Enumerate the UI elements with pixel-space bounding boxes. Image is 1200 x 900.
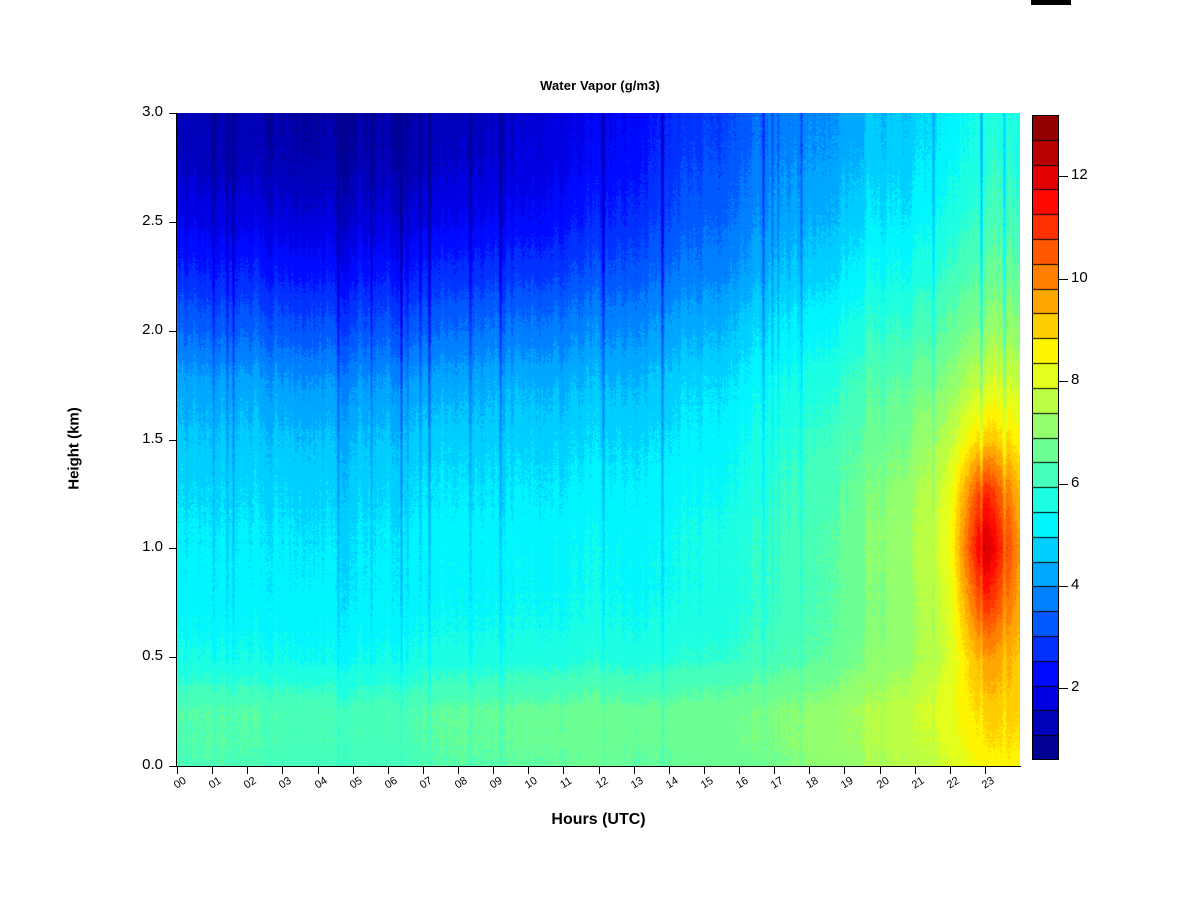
x-tick-mark bbox=[212, 767, 213, 774]
x-tick-mark bbox=[950, 767, 951, 774]
colorbar-tick-mark bbox=[1059, 484, 1068, 485]
x-tick-label: 08 bbox=[447, 771, 475, 795]
x-tick-label: 20 bbox=[869, 771, 897, 795]
x-tick-mark bbox=[563, 767, 564, 774]
x-tick-label: 16 bbox=[728, 771, 756, 795]
x-axis-title: Hours (UTC) bbox=[177, 811, 1020, 829]
x-tick-label: 07 bbox=[412, 771, 440, 795]
x-tick-label: 23 bbox=[974, 771, 1002, 795]
x-tick-label: 19 bbox=[833, 771, 861, 795]
y-tick-mark bbox=[169, 548, 176, 549]
x-tick-label: 05 bbox=[342, 771, 370, 795]
y-tick-label: 1.5 bbox=[103, 430, 163, 447]
x-tick-label: 13 bbox=[623, 771, 651, 795]
colorbar-tick-mark bbox=[1059, 586, 1068, 587]
x-tick-mark bbox=[423, 767, 424, 774]
x-tick-mark bbox=[669, 767, 670, 774]
y-axis-title: Height (km) bbox=[66, 369, 83, 529]
colorbar-tick-label: 12 bbox=[1071, 166, 1088, 183]
x-tick-label: 11 bbox=[552, 771, 580, 795]
x-tick-mark bbox=[318, 767, 319, 774]
y-tick-label: 3.0 bbox=[103, 103, 163, 120]
x-tick-mark bbox=[177, 767, 178, 774]
colorbar-tick-mark bbox=[1059, 381, 1068, 382]
x-tick-mark bbox=[247, 767, 248, 774]
x-tick-mark bbox=[880, 767, 881, 774]
x-tick-label: 12 bbox=[588, 771, 616, 795]
y-tick-label: 0.0 bbox=[103, 756, 163, 773]
x-tick-label: 17 bbox=[763, 771, 791, 795]
x-tick-mark bbox=[353, 767, 354, 774]
x-tick-mark bbox=[599, 767, 600, 774]
y-tick-label: 2.0 bbox=[103, 321, 163, 338]
y-tick-mark bbox=[169, 657, 176, 658]
colorbar-tick-label: 8 bbox=[1071, 371, 1079, 388]
y-tick-mark bbox=[169, 440, 176, 441]
x-tick-label: 01 bbox=[201, 771, 229, 795]
figure-canvas: Water Vapor (g/m3) 3.02.52.01.51.00.50.0… bbox=[0, 0, 1200, 900]
x-tick-label: 03 bbox=[271, 771, 299, 795]
y-tick-label: 1.0 bbox=[103, 538, 163, 555]
x-tick-mark bbox=[985, 767, 986, 774]
y-tick-label: 0.5 bbox=[103, 647, 163, 664]
x-tick-mark bbox=[388, 767, 389, 774]
x-tick-mark bbox=[809, 767, 810, 774]
x-tick-label: 09 bbox=[482, 771, 510, 795]
colorbar-tick-mark bbox=[1059, 688, 1068, 689]
x-tick-mark bbox=[774, 767, 775, 774]
y-tick-mark bbox=[169, 331, 176, 332]
x-tick-mark bbox=[282, 767, 283, 774]
x-tick-mark bbox=[528, 767, 529, 774]
x-tick-mark bbox=[704, 767, 705, 774]
x-tick-label: 22 bbox=[939, 771, 967, 795]
x-tick-label: 15 bbox=[693, 771, 721, 795]
colorbar-tick-label: 10 bbox=[1071, 269, 1088, 286]
y-axis-line bbox=[176, 113, 177, 767]
x-tick-label: 06 bbox=[377, 771, 405, 795]
x-tick-label: 21 bbox=[904, 771, 932, 795]
x-tick-mark bbox=[493, 767, 494, 774]
colorbar-tick-label: 4 bbox=[1071, 576, 1079, 593]
x-tick-mark bbox=[915, 767, 916, 774]
colorbar-gradient bbox=[1032, 115, 1059, 760]
x-tick-label: 00 bbox=[166, 771, 194, 795]
x-tick-label: 04 bbox=[307, 771, 335, 795]
colorbar-tick-label: 6 bbox=[1071, 474, 1079, 491]
x-tick-label: 18 bbox=[798, 771, 826, 795]
corner-artifact bbox=[1031, 0, 1071, 5]
x-tick-label: 10 bbox=[517, 771, 545, 795]
colorbar-tick-mark bbox=[1059, 176, 1068, 177]
x-tick-label: 02 bbox=[236, 771, 264, 795]
y-tick-mark bbox=[169, 766, 176, 767]
x-tick-mark bbox=[739, 767, 740, 774]
heatmap-plot-area bbox=[177, 113, 1020, 766]
y-tick-label: 2.5 bbox=[103, 212, 163, 229]
colorbar-tick-mark bbox=[1059, 279, 1068, 280]
x-tick-mark bbox=[458, 767, 459, 774]
page-title: Water Vapor (g/m3) bbox=[0, 78, 1200, 93]
y-tick-mark bbox=[169, 222, 176, 223]
x-tick-label: 14 bbox=[658, 771, 686, 795]
x-tick-mark bbox=[634, 767, 635, 774]
x-tick-mark bbox=[844, 767, 845, 774]
colorbar-tick-label: 2 bbox=[1071, 678, 1079, 695]
y-tick-mark bbox=[169, 113, 176, 114]
